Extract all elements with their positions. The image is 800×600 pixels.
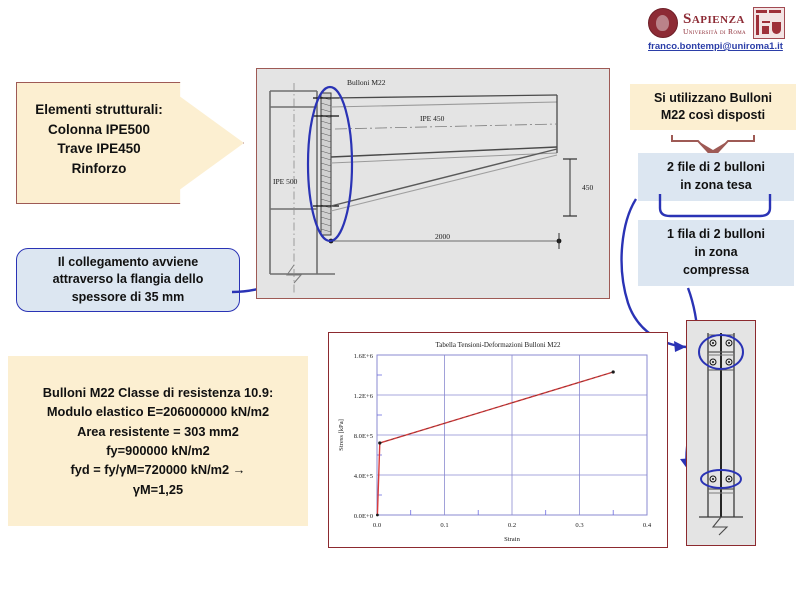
- chart-ylabel: Stress [kPa]: [338, 419, 345, 451]
- contact-email-link[interactable]: franco.bontempi@uniroma1.it: [648, 41, 798, 52]
- logo-title: Sapienza: [683, 11, 745, 27]
- callout-structural-elements: Elementi strutturali: Colonna IPE500 Tra…: [16, 82, 244, 204]
- chart-ytick-2: 8.0E+5: [354, 433, 374, 440]
- connection-drawing-svg: 450 2000 Bulloni M22 IPE 450 IPE 500: [257, 69, 609, 298]
- bolt-usage-text: Si utilizzano Bulloni M22 così disposti: [654, 90, 772, 125]
- box-bolt-usage: Si utilizzano Bulloni M22 così disposti: [630, 84, 796, 130]
- chart-point-ultimate: [612, 370, 615, 373]
- chart-xtick-4: 0.4: [643, 522, 652, 529]
- use-bolts-line-2: M22 così disposti: [654, 107, 772, 125]
- bolt-prop-line-6: γM=1,25: [43, 480, 273, 499]
- slide-canvas: Sapienza Università di Roma franco.bonte…: [0, 0, 800, 600]
- department-crest-icon: [753, 7, 785, 39]
- chart-point-yield: [378, 441, 381, 444]
- chart-ytick-3: 1.2E+6: [354, 393, 374, 400]
- logo-subtitle: Università di Roma: [683, 28, 746, 36]
- panel-stress-strain-chart: Tabella Tensioni-Deformazioni Bulloni M2…: [328, 332, 668, 548]
- tension-zone-text: 2 file di 2 bulloni in zona tesa: [667, 159, 765, 195]
- bolt-prop-line-3: Area resistente = 303 mm2: [43, 422, 273, 441]
- bolt-prop-line-2: Modulo elastico E=206000000 kN/m2: [43, 402, 273, 421]
- structural-line-4: Rinforzo: [24, 159, 174, 179]
- label-ipe500: IPE 500: [273, 177, 298, 186]
- panel-bolt-layout-detail: [686, 320, 756, 546]
- bolt-properties-text: Bulloni M22 Classe di resistenza 10.9: M…: [39, 383, 277, 500]
- chart-point-origin: [376, 514, 379, 517]
- university-seal-icon: [648, 8, 678, 38]
- flangia-line-3: spessore di 35 mm: [53, 289, 204, 307]
- structural-line-2: Colonna IPE500: [24, 120, 174, 140]
- flangia-line-2: attraverso la flangia dello: [53, 271, 204, 289]
- callout-flange-connection: Il collegamento avviene attraverso la fl…: [16, 248, 240, 312]
- panel-connection-drawing: 450 2000 Bulloni M22 IPE 450 IPE 500: [256, 68, 610, 299]
- structural-line-3: Trave IPE450: [24, 139, 174, 159]
- chart-ytick-4: 1.6E+6: [354, 353, 374, 360]
- chart-xtick-2: 0.2: [508, 522, 516, 529]
- dimension-height-label: 450: [582, 183, 594, 192]
- box-bolt-properties: Bulloni M22 Classe di resistenza 10.9: M…: [8, 356, 308, 526]
- label-bolts-m22: Bulloni M22: [347, 78, 386, 87]
- bolt-prop-line-4: fy=900000 kN/m2: [43, 441, 273, 460]
- sapienza-logo: Sapienza Università di Roma: [648, 6, 796, 40]
- chart-ytick-0: 0.0E+0: [354, 513, 374, 520]
- structural-line-1: Elementi strutturali:: [24, 100, 174, 120]
- chart-ytick-1: 4.0E+5: [354, 473, 374, 480]
- dimension-length-label: 2000: [435, 232, 450, 241]
- chart-xtick-1: 0.1: [440, 522, 448, 529]
- chart-xtick-3: 0.3: [575, 522, 584, 529]
- label-ipe450: IPE 450: [420, 114, 445, 123]
- chart-xtick-0: 0.0: [373, 522, 382, 529]
- callout-flange-text: Il collegamento avviene attraverso la fl…: [53, 254, 204, 307]
- flangia-line-1: Il collegamento avviene: [53, 254, 204, 272]
- bolt-prop-line-1: Bulloni M22 Classe di resistenza 10.9:: [43, 383, 273, 402]
- callout-structural-text: Elementi strutturali: Colonna IPE500 Tra…: [24, 100, 174, 178]
- chart-xlabel: Strain: [504, 536, 520, 543]
- use-bolts-line-1: Si utilizzano Bulloni: [654, 90, 772, 108]
- tesa-line-1: 2 file di 2 bulloni: [667, 159, 765, 177]
- chart-title: Tabella Tensioni-Deformazioni Bulloni M2…: [435, 341, 561, 349]
- bolt-layout-svg: [687, 321, 755, 545]
- bolt-prop-line-5: fyd = fy/γM=720000 kN/m2 →: [43, 460, 273, 479]
- logo-wordmark: Sapienza Università di Roma: [683, 11, 746, 36]
- stress-strain-chart-svg: Tabella Tensioni-Deformazioni Bulloni M2…: [329, 333, 667, 547]
